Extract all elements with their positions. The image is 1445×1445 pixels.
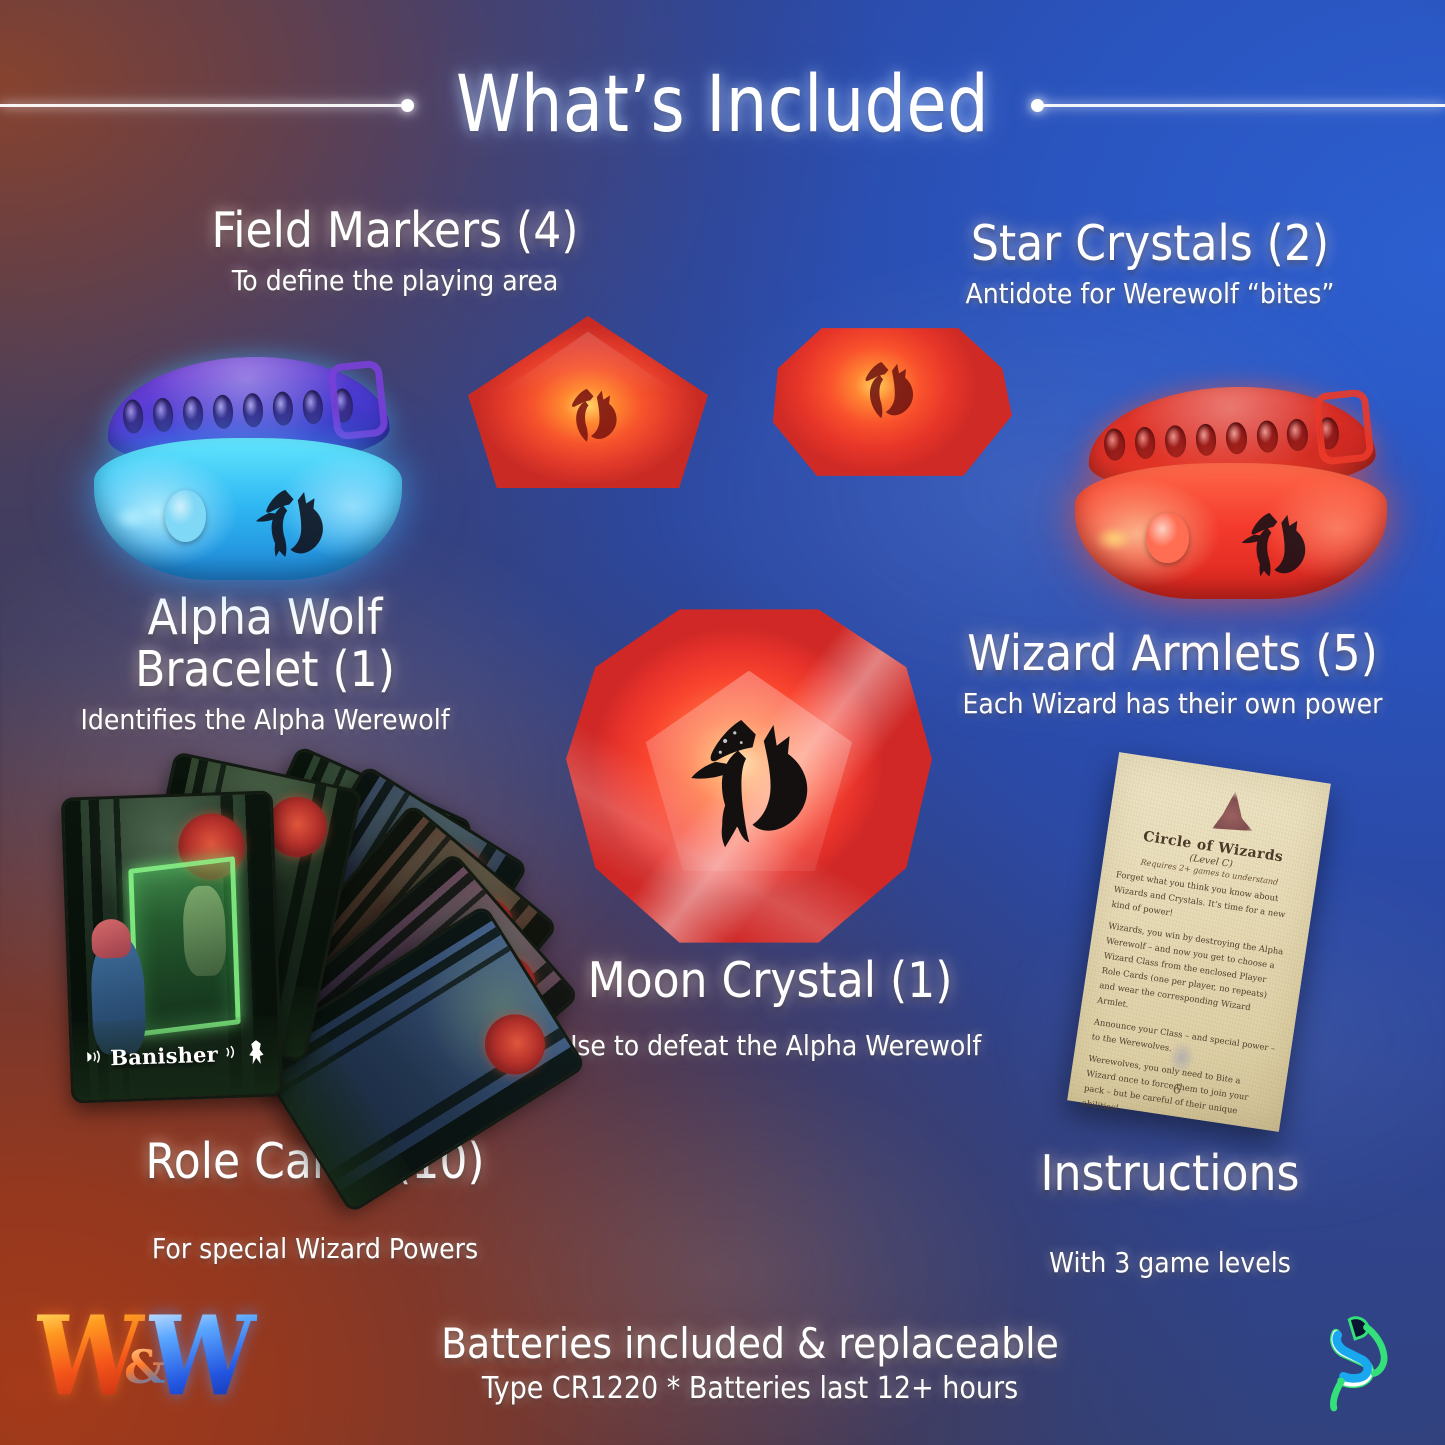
- title-dot-right: [1031, 99, 1044, 112]
- banisher-creature-art: [182, 885, 226, 976]
- armlet-led-glow: [1088, 522, 1140, 556]
- footer-batteries: Batteries included & replaceable Type CR…: [395, 1322, 1105, 1407]
- brand-logo-ww: W & W: [38, 1300, 248, 1418]
- whats-included-infographic: What’s Included Field Markers (4) To def…: [0, 0, 1445, 1445]
- witch-wolf-emblem-icon: [1218, 495, 1329, 594]
- label-alpha-wolf-bracelet: Alpha Wolf Bracelet (1) Identifies the A…: [15, 592, 515, 736]
- label-instructions-title: Instructions: [945, 1148, 1395, 1200]
- page-title: What’s Included: [436, 60, 1010, 150]
- footer-batteries-line2: Type CR1220 * Batteries last 12+ hours: [395, 1371, 1105, 1407]
- bracelet-buckle: [327, 359, 389, 440]
- witch-wolf-emblem-icon: [841, 338, 929, 442]
- label-alpha-wolf-bracelet-title-line2: Bracelet (1): [15, 644, 515, 696]
- label-role-cards-subtitle: For special Wizard Powers: [70, 1232, 560, 1266]
- label-alpha-wolf-bracelet-title-line1: Alpha Wolf: [15, 592, 515, 644]
- role-card-name-bar: Banisher: [84, 1031, 267, 1079]
- role-card-front-banisher: Banisher: [61, 790, 284, 1103]
- label-alpha-wolf-bracelet-subtitle: Identifies the Alpha Werewolf: [15, 703, 515, 737]
- sound-wave-icon: [222, 1042, 243, 1065]
- product-star-crystal: [768, 318, 1012, 486]
- witch-wolf-emblem-icon: [547, 374, 633, 457]
- role-card-name: Banisher: [110, 1041, 219, 1070]
- product-alpha-wolf-bracelet: [88, 352, 408, 590]
- label-star-crystals-title: Star Crystals (2): [885, 218, 1415, 270]
- title-rule-right: [1044, 104, 1445, 107]
- label-instructions: Instructions With 3 game levels: [945, 1148, 1395, 1280]
- label-field-markers: Field Markers (4) To define the playing …: [125, 205, 665, 298]
- label-wizard-armlets-title: Wizard Armlets (5): [900, 628, 1445, 680]
- label-wizard-armlets-subtitle: Each Wizard has their own power: [900, 687, 1445, 721]
- footer-batteries-line1: Batteries included & replaceable: [395, 1322, 1105, 1367]
- title-rule-left: [0, 104, 401, 107]
- label-star-crystals-subtitle: Antidote for Werewolf “bites”: [885, 277, 1415, 311]
- running-figure-icon: [247, 1040, 265, 1065]
- product-wizard-armlet: [1068, 382, 1394, 608]
- product-role-cards: Banisher: [48, 768, 548, 1148]
- armlet-button: [1146, 513, 1188, 563]
- witch-wolf-emblem-icon: [235, 471, 344, 576]
- title-dot-left: [401, 99, 414, 112]
- label-wizard-armlets: Wizard Armlets (5) Each Wizard has their…: [900, 628, 1445, 721]
- page-title-row: What’s Included: [0, 50, 1445, 160]
- brand-logo-w-ice: W: [143, 1302, 258, 1411]
- witch-wolf-emblem-icon: [672, 698, 833, 861]
- banisher-wizard-hood: [91, 918, 131, 958]
- label-field-markers-title: Field Markers (4): [125, 205, 665, 257]
- label-field-markers-subtitle: To define the playing area: [125, 264, 665, 298]
- label-star-crystals: Star Crystals (2) Antidote for Werewolf …: [885, 218, 1415, 311]
- product-moon-crystal: [566, 606, 932, 946]
- sound-wave-icon: [85, 1046, 106, 1069]
- product-field-marker: [468, 316, 708, 488]
- sheet-paragraph: Wizards, you win by destroying the Alpha…: [1096, 919, 1291, 1035]
- publisher-logo-s: [1307, 1312, 1403, 1416]
- label-instructions-subtitle: With 3 game levels: [945, 1246, 1395, 1280]
- armlet-buckle: [1312, 388, 1375, 466]
